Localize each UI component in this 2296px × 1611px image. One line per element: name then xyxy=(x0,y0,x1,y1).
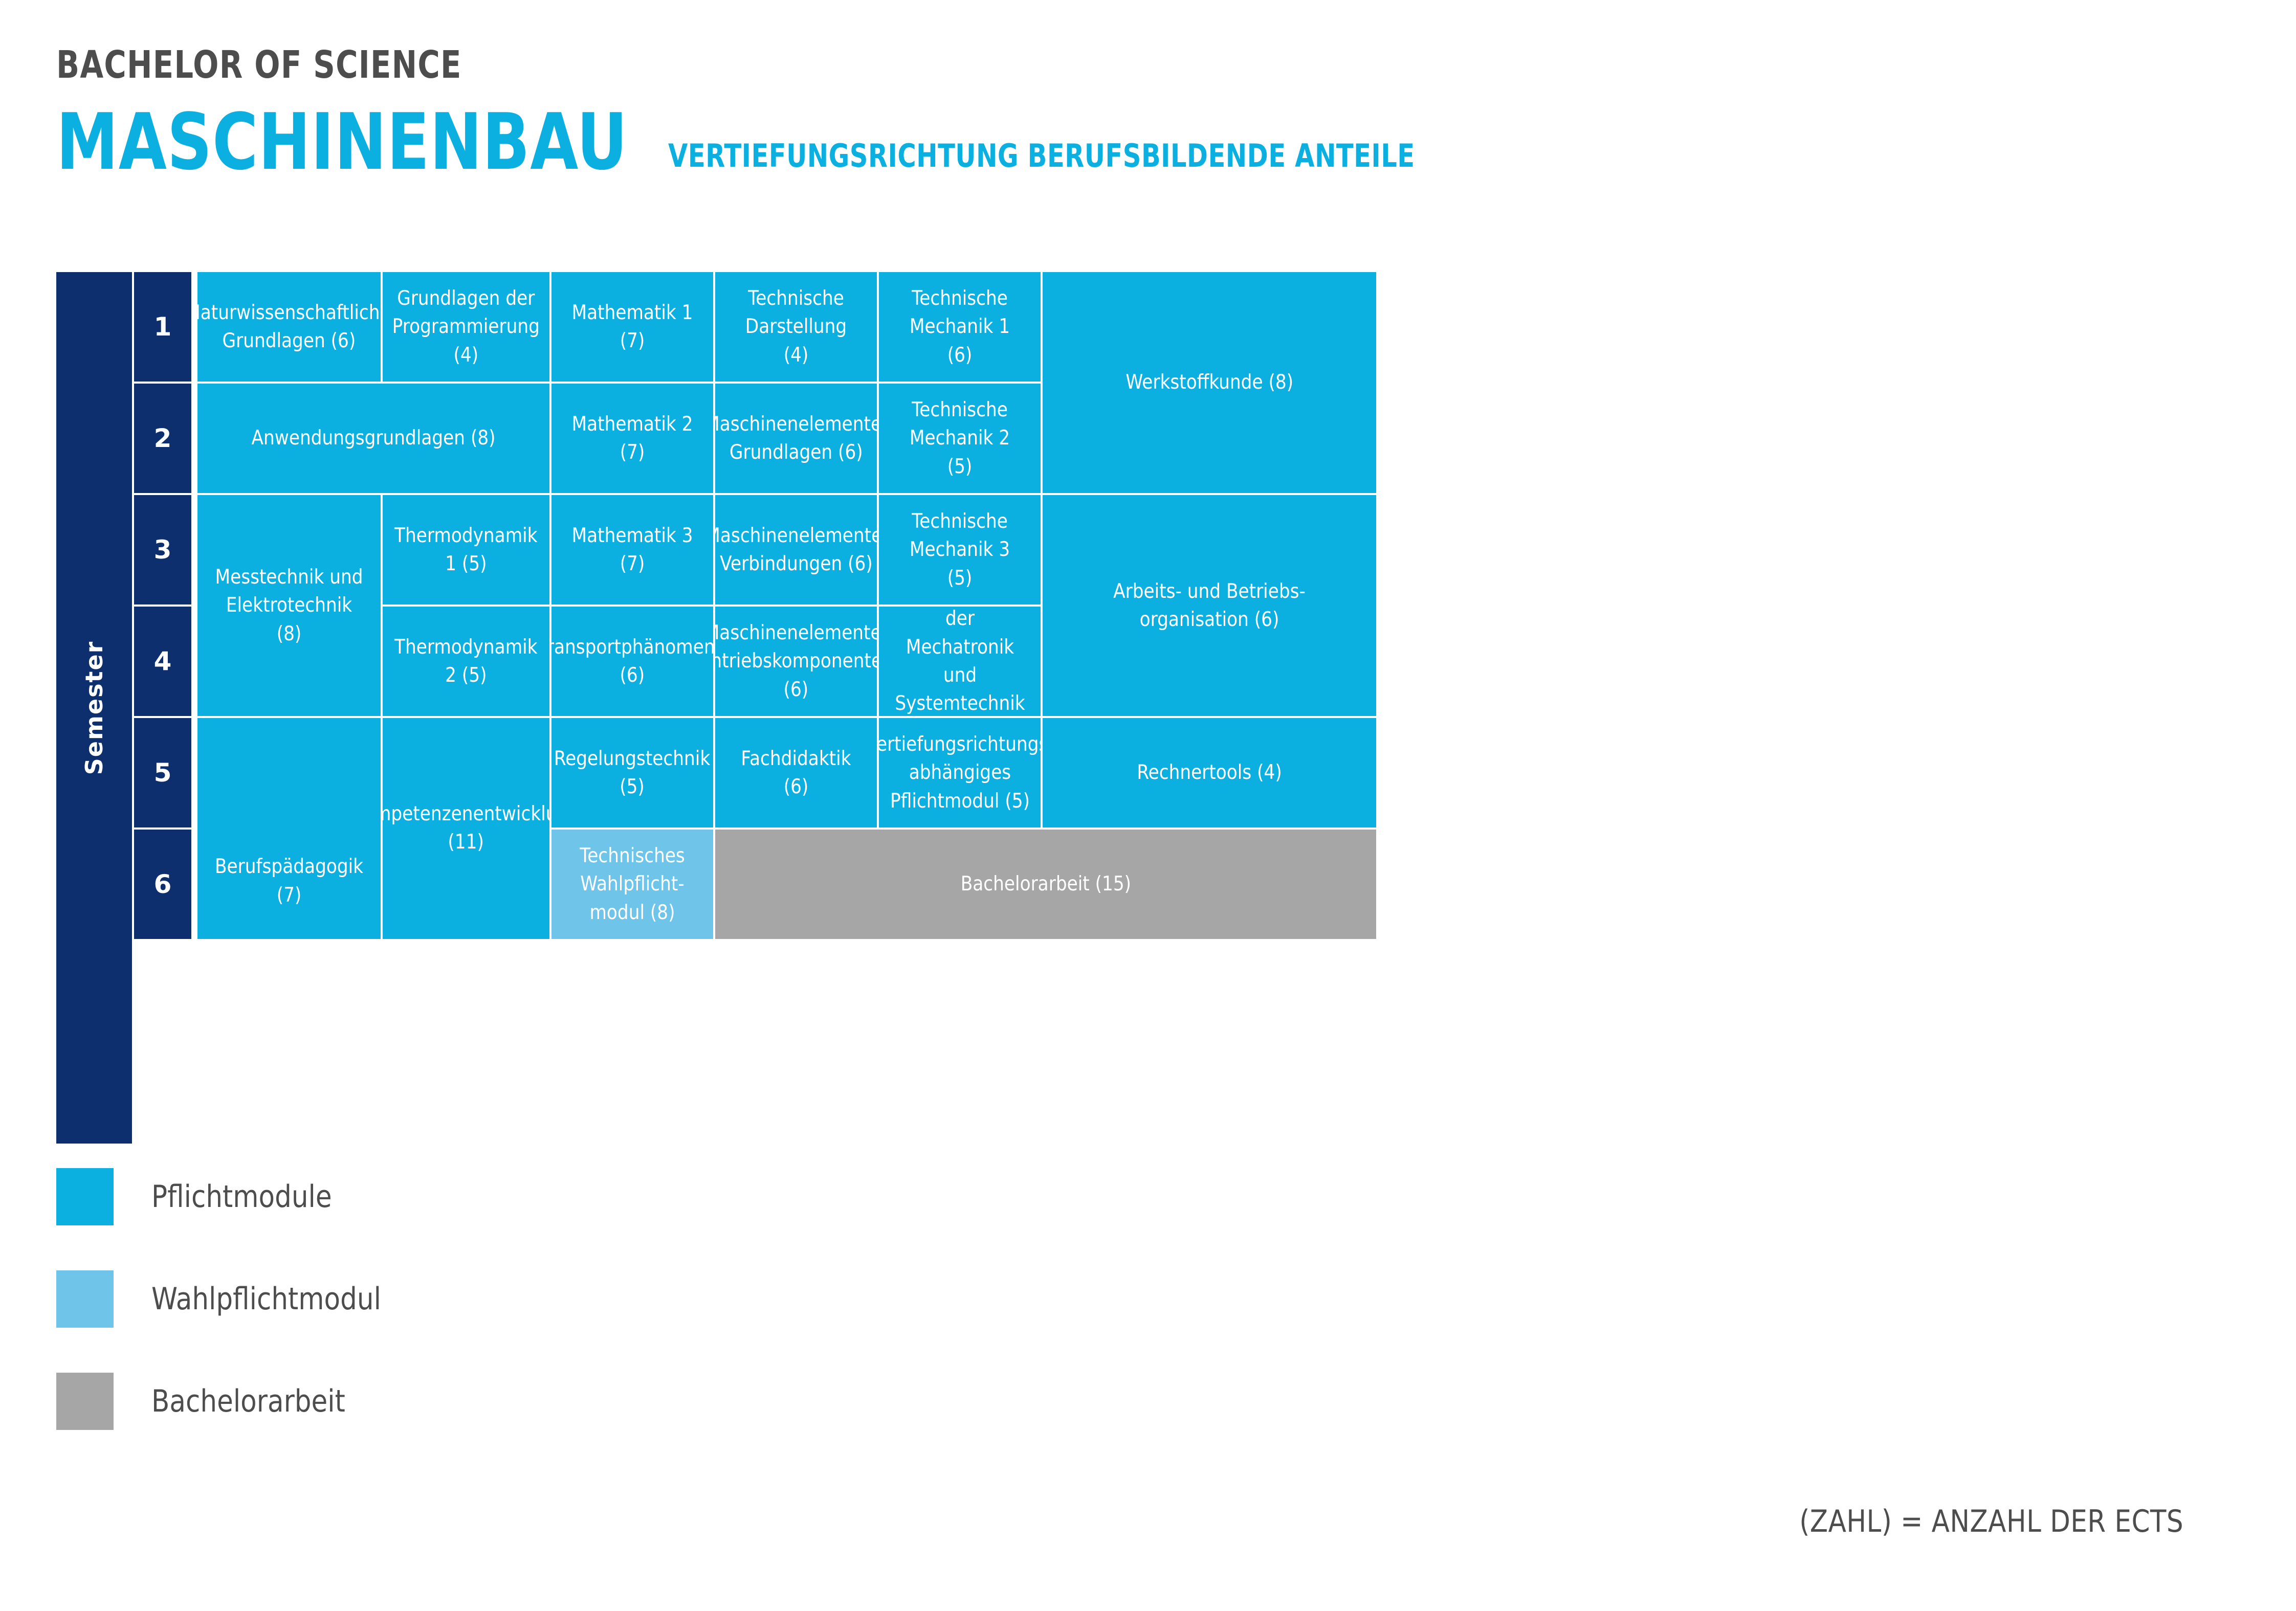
degree-kicker: BACHELOR OF SCIENCE xyxy=(56,46,1571,84)
module-cell-werkstoffkunde[interactable]: Werkstoffkunde (8) xyxy=(1043,272,1376,493)
module-label: Kompetenzenentwicklung (11) xyxy=(383,800,549,857)
module-cell-thermodynamik-1[interactable]: Thermodynamik 1 (5) xyxy=(383,495,549,605)
semester-number-4: 4 xyxy=(134,607,191,716)
legend-swatch-bachelorarbeit xyxy=(56,1373,114,1430)
legend-label: Wahlpflichtmodul xyxy=(151,1281,381,1317)
module-label: Naturwissenschaftliche Grundlagen (6) xyxy=(197,299,381,355)
module-cell-grundlagen-mechatronik-systemtechnik[interactable]: Grundlagen der Mechatronik und Systemtec… xyxy=(879,607,1041,716)
semester-number-1: 1 xyxy=(134,272,191,382)
legend-item-pflichtmodule: Pflichtmodule xyxy=(56,1164,418,1229)
legend-swatch-wahlpflichtmodul xyxy=(56,1270,114,1328)
page-header: BACHELOR OF SCIENCE MASCHINENBAU VERTIEF… xyxy=(56,46,1949,179)
semester-number-6: 6 xyxy=(134,830,191,939)
module-label: Thermodynamik 2 (5) xyxy=(394,633,537,690)
legend-label: Pflichtmodule xyxy=(151,1179,332,1215)
module-cell-grundlagen-der-programmierung[interactable]: Grundlagen der Programmierung (4) xyxy=(383,272,549,382)
module-cell-regelungstechnik[interactable]: Regelungstechnik (5) xyxy=(551,718,713,827)
module-cell-kompetenzenentwicklung[interactable]: Kompetenzenentwicklung (11) xyxy=(383,718,549,939)
module-label: Thermodynamik 1 (5) xyxy=(394,522,537,578)
module-cell-maschinenelemente-grundlagen[interactable]: Maschinenelemente-Grundlagen (6) xyxy=(715,384,877,493)
module-cell-technische-mechanik-1[interactable]: Technische Mechanik 1 (6) xyxy=(879,272,1041,382)
title-row: MASCHINENBAU VERTIEFUNGSRICHTUNG BERUFSB… xyxy=(56,105,1949,179)
legend: Pflichtmodule Wahlpflichtmodul Bachelora… xyxy=(56,1164,418,1471)
module-cell-technische-mechanik-3[interactable]: Technische Mechanik 3 (5) xyxy=(879,495,1041,605)
semester-number-label: 1 xyxy=(154,312,172,342)
module-cell-rechnertools[interactable]: Rechnertools (4) xyxy=(1043,718,1376,827)
module-cell-maschinenelemente-verbindungen[interactable]: Maschinenelemente-Verbindungen (6) xyxy=(715,495,877,605)
semester-axis-text: Semester xyxy=(80,641,108,775)
module-label: Transportphänomene (6) xyxy=(551,633,713,690)
legend-swatch-pflichtmodule xyxy=(56,1168,114,1225)
semester-number-3: 3 xyxy=(134,495,191,605)
ects-footnote: (ZAHL) = ANZAHL DER ECTS xyxy=(1799,1504,2183,1539)
module-label: Messtechnik und Elektrotechnik (8) xyxy=(215,563,363,648)
semester-number-label: 3 xyxy=(154,535,172,565)
module-cell-arbeits-und-betriebsorganisation[interactable]: Arbeits- und Betriebs-organisation (6) xyxy=(1043,495,1376,716)
module-label: Rechnertools (4) xyxy=(1137,758,1282,787)
module-label: Technische Mechanik 1 (6) xyxy=(895,284,1024,369)
module-label: Grundlagen der Mechatronik und Systemtec… xyxy=(895,607,1025,716)
module-label: Werkstoffkunde (8) xyxy=(1125,368,1293,396)
module-cell-bachelorarbeit[interactable]: Bachelorarbeit (15) xyxy=(715,830,1376,939)
legend-label: Bachelorarbeit xyxy=(151,1383,345,1419)
curriculum-matrix: Semester 1 2 3 4 5 6 Naturwissenschaftli… xyxy=(56,272,1904,1144)
module-cell-naturwissenschaftliche-grundlagen[interactable]: Naturwissenschaftliche Grundlagen (6) xyxy=(197,272,381,382)
module-label: Vertiefungsrichtungs-abhängiges Pflichtm… xyxy=(879,730,1041,815)
module-cell-mathematik-3[interactable]: Mathematik 3 (7) xyxy=(551,495,713,605)
module-label: Technische Mechanik 3 (5) xyxy=(895,507,1024,592)
legend-item-wahlpflichtmodul: Wahlpflichtmodul xyxy=(56,1266,418,1332)
module-cell-vertiefungsrichtungsabhaengiges-pflichtmodul[interactable]: Vertiefungsrichtungs-abhängiges Pflichtm… xyxy=(879,718,1041,827)
module-label: Maschinenelemente-Verbindungen (6) xyxy=(715,522,877,578)
module-cell-technisches-wahlpflichtmodul[interactable]: Technisches Wahlpflicht-modul (8) xyxy=(551,830,713,939)
module-cell-technische-darstellung[interactable]: Technische Darstellung (4) xyxy=(715,272,877,382)
semester-axis-label: Semester xyxy=(56,272,132,1144)
module-label: Berufspädagogik (7) xyxy=(215,853,363,909)
semester-number-2: 2 xyxy=(134,384,191,493)
module-cell-thermodynamik-2[interactable]: Thermodynamik 2 (5) xyxy=(383,607,549,716)
module-cell-mathematik-2[interactable]: Mathematik 2 (7) xyxy=(551,384,713,493)
module-label: Bachelorarbeit (15) xyxy=(960,870,1131,898)
module-cell-anwendungsgrundlagen[interactable]: Anwendungsgrundlagen (8) xyxy=(197,384,549,493)
semester-number-label: 2 xyxy=(154,423,172,453)
module-label: Maschinenelemente-Antriebskomponenten (6… xyxy=(715,619,877,704)
module-label: Regelungstechnik (5) xyxy=(554,745,710,801)
module-label: Mathematik 1 (7) xyxy=(567,299,697,355)
page-title: MASCHINENBAU xyxy=(56,105,628,179)
semester-number-label: 5 xyxy=(154,758,172,788)
module-cell-maschinenelemente-antriebskomponenten[interactable]: Maschinenelemente-Antriebskomponenten (6… xyxy=(715,607,877,716)
module-label: Arbeits- und Betriebs-organisation (6) xyxy=(1069,577,1350,634)
semester-number-label: 4 xyxy=(154,646,172,676)
module-cell-berufspaedagogik[interactable]: Berufspädagogik (7) xyxy=(197,718,381,939)
module-label: Technische Mechanik 2 (5) xyxy=(895,396,1024,481)
module-cell-transportphaenomene[interactable]: Transportphänomene (6) xyxy=(551,607,713,716)
module-label: Anwendungsgrundlagen (8) xyxy=(251,424,495,452)
module-cell-technische-mechanik-2[interactable]: Technische Mechanik 2 (5) xyxy=(879,384,1041,493)
module-label: Maschinenelemente-Grundlagen (6) xyxy=(715,410,877,467)
module-label: Technische Darstellung (4) xyxy=(731,284,860,369)
semester-number-label: 6 xyxy=(154,869,172,899)
module-cell-fachdidaktik[interactable]: Fachdidaktik (6) xyxy=(715,718,877,827)
legend-item-bachelorarbeit: Bachelorarbeit xyxy=(56,1369,418,1434)
semester-number-5: 5 xyxy=(134,718,191,827)
module-label: Mathematik 3 (7) xyxy=(567,522,697,578)
module-label: Fachdidaktik (6) xyxy=(731,745,860,801)
module-cell-mathematik-1[interactable]: Mathematik 1 (7) xyxy=(551,272,713,382)
module-label: Technisches Wahlpflicht-modul (8) xyxy=(567,842,697,927)
module-cell-messtechnik-und-elektrotechnik[interactable]: Messtechnik und Elektrotechnik (8) xyxy=(197,495,381,716)
module-label: Grundlagen der Programmierung (4) xyxy=(392,284,540,369)
module-label: Mathematik 2 (7) xyxy=(567,410,697,467)
page-subtitle: VERTIEFUNGSRICHTUNG BERUFSBILDENDE ANTEI… xyxy=(668,140,1415,179)
